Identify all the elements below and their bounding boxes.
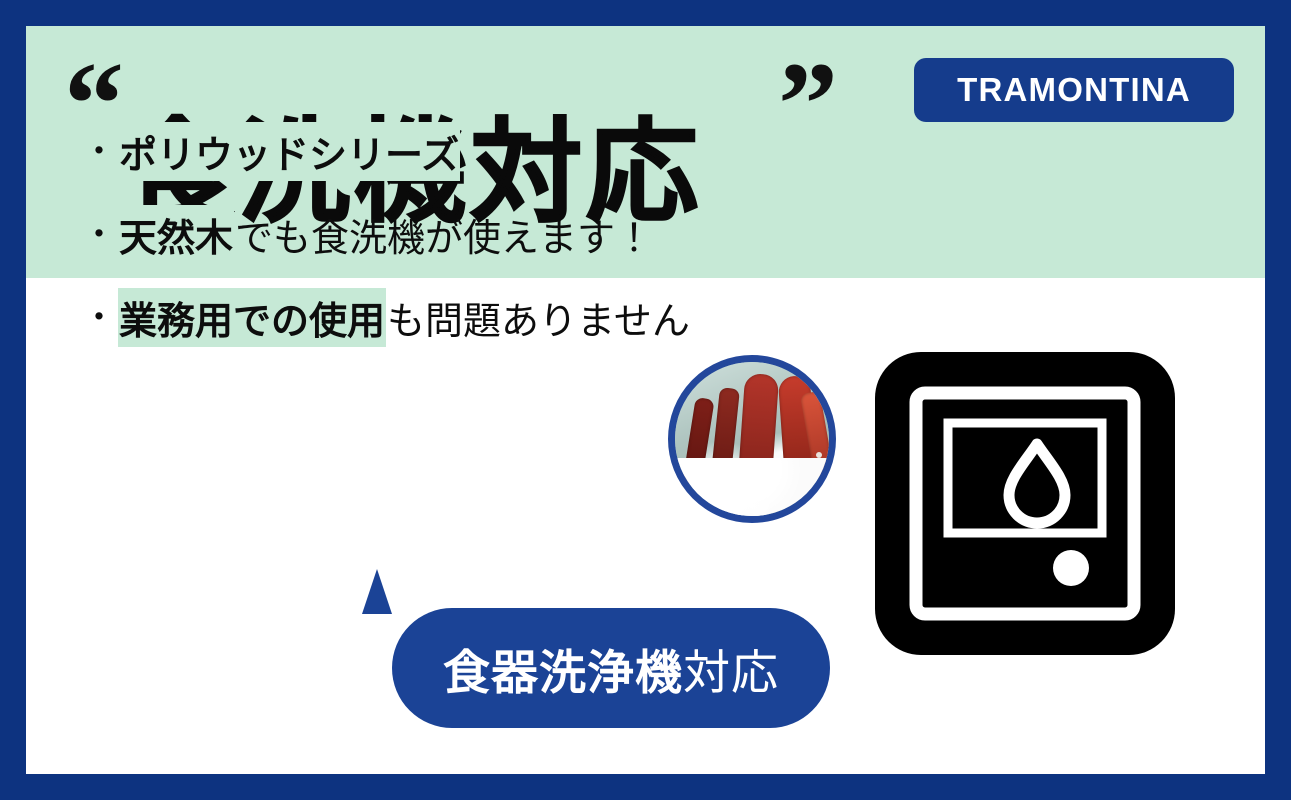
list-item: ・ ポリウッドシリーズ bbox=[82, 122, 691, 181]
list-item: ・ 業務用での使用 も問題ありません bbox=[82, 288, 691, 347]
bullet-marker-icon: ・ bbox=[82, 218, 116, 252]
list-item-text: も問題ありません bbox=[386, 288, 691, 347]
callout-text-light: 対応 bbox=[683, 646, 779, 699]
list-item-highlight: ポリウッドシリーズ bbox=[118, 122, 460, 181]
list-item-text bbox=[460, 150, 462, 154]
banner-canvas: “ 食洗機対応 ” TRAMONTINA ・ ポリウッドシリーズ ・ 天然木 で… bbox=[26, 26, 1265, 774]
brand-badge: TRAMONTINA bbox=[914, 58, 1234, 122]
callout-text: 食器洗浄機対応 bbox=[443, 634, 779, 703]
soap-foam bbox=[675, 458, 829, 516]
list-item-highlight: 業務用での使用 bbox=[118, 288, 386, 347]
photo-image bbox=[675, 362, 829, 516]
speech-bubble-tail bbox=[362, 569, 392, 614]
dishwasher-safe-icon bbox=[875, 352, 1175, 655]
brand-name-label: TRAMONTINA bbox=[957, 71, 1191, 109]
feature-list: ・ ポリウッドシリーズ ・ 天然木 でも食洗機が使えます！ ・ 業務用での使用 … bbox=[82, 122, 691, 371]
list-item-highlight: 天然木 bbox=[118, 205, 234, 264]
dishwasher-photo-thumbnail bbox=[668, 355, 836, 523]
control-knob-dot bbox=[1053, 550, 1089, 586]
list-item-text: でも食洗機が使えます！ bbox=[234, 205, 654, 264]
closing-quote-mark: ” bbox=[778, 44, 838, 164]
dishwasher-safe-callout: 食器洗浄機対応 bbox=[392, 608, 830, 728]
bullet-marker-icon: ・ bbox=[82, 135, 116, 169]
promo-banner: “ 食洗機対応 ” TRAMONTINA ・ ポリウッドシリーズ ・ 天然木 で… bbox=[0, 0, 1291, 800]
bullet-marker-icon: ・ bbox=[82, 301, 116, 335]
callout-text-strong: 食器洗浄機 bbox=[443, 646, 683, 699]
list-item: ・ 天然木 でも食洗機が使えます！ bbox=[82, 205, 691, 264]
